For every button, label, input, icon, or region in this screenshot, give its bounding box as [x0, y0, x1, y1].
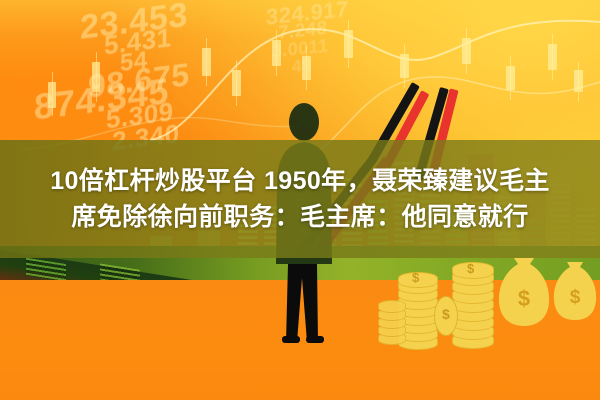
- gold-coin-stack: [378, 288, 404, 348]
- svg-text:$: $: [570, 287, 581, 308]
- headline-line-1: 10倍杠杆炒股平台 1950年，聂荣臻建议毛主: [50, 166, 550, 197]
- dollar-symbol: $: [467, 261, 474, 276]
- money-bag-icon: $: [552, 262, 598, 324]
- dollar-symbol: $: [412, 270, 419, 285]
- wall-data-block: [26, 258, 66, 282]
- thumbnail-banner: 23.453 5.431 54 98.675 874.345 5.309 2.3…: [0, 0, 600, 400]
- dollar-symbol: $: [442, 306, 450, 322]
- money-bag-icon: $: [496, 258, 552, 330]
- svg-text:$: $: [518, 286, 530, 311]
- headline-line-2: 席免除徐向前职务：毛主席：他同意就行: [71, 202, 528, 233]
- gold-coin-stack: $: [452, 262, 492, 350]
- gold-coin-single: $: [434, 296, 458, 336]
- headline-text: 10倍杠杆炒股平台 1950年，聂荣臻建议毛主 席免除徐向前职务：毛主席：他同意…: [0, 140, 600, 258]
